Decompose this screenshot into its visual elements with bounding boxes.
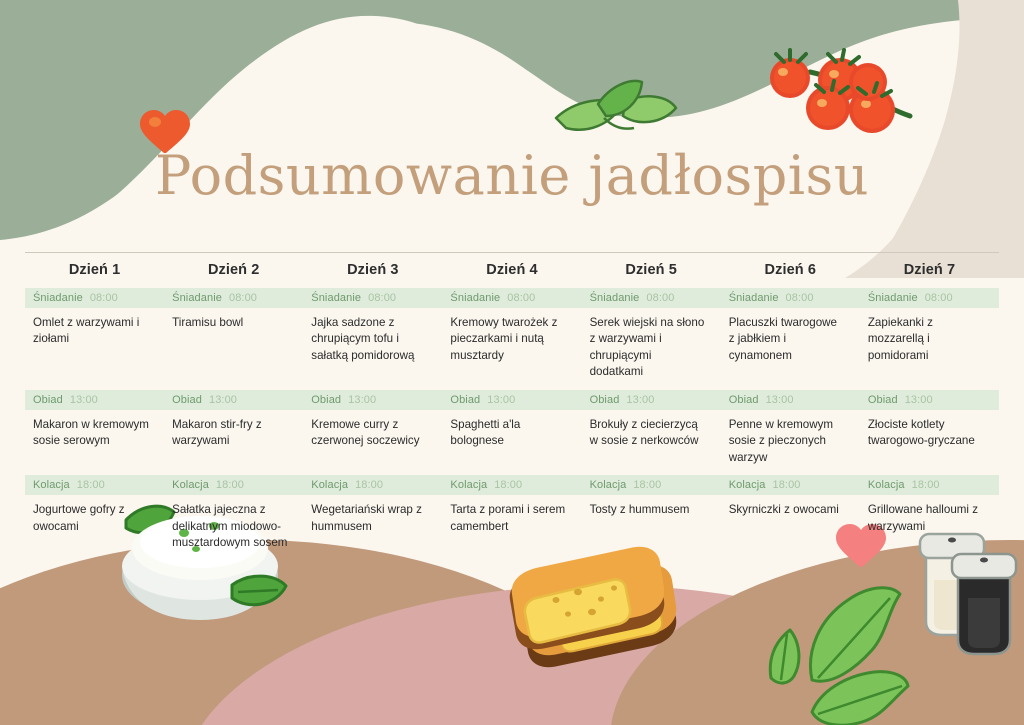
lunch-dish-cell-6: Penne w kremowym sosie z pieczonych warz…	[721, 410, 860, 475]
dinner-dish-cell-2: Sałatka jajeczna z delikatnym miodowo-mu…	[164, 495, 303, 560]
lunch-dish-row: Makaron w kremowym sosie serowym Makaron…	[25, 410, 999, 475]
day-header-6: Dzień 6	[721, 253, 860, 288]
meal-band-dinner: Kolacja 18:00	[25, 475, 164, 495]
meal-time: 18:00	[633, 479, 661, 491]
meal-band-dinner: Kolacja 18:00	[164, 475, 303, 495]
meal-label: Śniadanie	[311, 292, 361, 304]
day-header-4: Dzień 4	[442, 253, 581, 288]
meal-label: Obiad	[172, 394, 202, 406]
lunch-band-cell-4: Obiad 13:00	[442, 390, 581, 410]
meal-band-breakfast: Śniadanie 08:00	[25, 288, 164, 308]
breakfast-dish-cell-2: Tiramisu bowl	[164, 308, 303, 390]
breakfast-band-cell-4: Śniadanie 08:00	[442, 288, 581, 308]
breakfast-dish-cell-7: Zapiekanki z mozzarellą i pomidorami	[860, 308, 999, 390]
breakfast-dish-cell-6: Placuszki twarogowe z jabłkiem i cynamon…	[721, 308, 860, 390]
meal-time: 08:00	[229, 292, 257, 304]
dish-text: Grillowane halloumi z warzywami	[860, 495, 999, 544]
day-header-5: Dzień 5	[582, 253, 721, 288]
dish-text: Tosty z hummusem	[582, 495, 721, 541]
breakfast-dish-cell-1: Omlet z warzywami i ziołami	[25, 308, 164, 390]
breakfast-band-cell-7: Śniadanie 08:00	[860, 288, 999, 308]
meal-band-lunch: Obiad 13:00	[442, 390, 581, 410]
page-title-wrap: Podsumowanie jadłospisu	[0, 148, 1024, 205]
lunch-dish-cell-1: Makaron w kremowym sosie serowym	[25, 410, 164, 475]
meal-band-dinner: Kolacja 18:00	[442, 475, 581, 495]
meal-time: 13:00	[905, 394, 933, 406]
meal-label: Kolacja	[590, 479, 627, 491]
dinner-dish-cell-6: Skyrniczki z owocami	[721, 495, 860, 560]
meal-band-breakfast: Śniadanie 08:00	[582, 288, 721, 308]
meal-time: 18:00	[772, 479, 800, 491]
dinner-dish-row: Jogurtowe gofry z owocami Sałatka jajecz…	[25, 495, 999, 560]
dish-text: Wegetariański wrap z hummusem	[303, 495, 442, 544]
meal-band-breakfast: Śniadanie 08:00	[303, 288, 442, 308]
breakfast-band-cell-5: Śniadanie 08:00	[582, 288, 721, 308]
meal-time: 18:00	[355, 479, 383, 491]
table-head: Dzień 1 Dzień 2 Dzień 3 Dzień 4 Dzień 5 …	[25, 253, 999, 288]
dish-text: Tiramisu bowl	[164, 308, 303, 364]
meal-label: Obiad	[311, 394, 341, 406]
meal-label: Kolacja	[868, 479, 905, 491]
dish-text: Złociste kotlety twarogowo-gryczane	[860, 410, 999, 459]
dinner-band-cell-6: Kolacja 18:00	[721, 475, 860, 495]
meal-time: 08:00	[646, 292, 674, 304]
dish-text: Zapiekanki z mozzarellą i pomidorami	[860, 308, 999, 373]
meal-band-lunch: Obiad 13:00	[25, 390, 164, 410]
meal-label: Kolacja	[311, 479, 348, 491]
lunch-band-row: Obiad 13:00 Obiad 13:00 Obiad 13:0	[25, 390, 999, 410]
breakfast-dish-cell-3: Jajka sadzone z chrupiącym tofu i sałatk…	[303, 308, 442, 390]
day-header-7: Dzień 7	[860, 253, 999, 288]
meal-plan-table: Dzień 1 Dzień 2 Dzień 3 Dzień 4 Dzień 5 …	[25, 253, 999, 561]
meal-time: 13:00	[209, 394, 237, 406]
dinner-band-row: Kolacja 18:00 Kolacja 18:00 Kolacja	[25, 475, 999, 495]
lunch-dish-cell-4: Spaghetti a'la bolognese	[442, 410, 581, 475]
dinner-band-cell-1: Kolacja 18:00	[25, 475, 164, 495]
dinner-band-cell-5: Kolacja 18:00	[582, 475, 721, 495]
meal-label: Obiad	[868, 394, 898, 406]
meal-band-lunch: Obiad 13:00	[582, 390, 721, 410]
day-header-2: Dzień 2	[164, 253, 303, 288]
meal-band-lunch: Obiad 13:00	[303, 390, 442, 410]
meal-band-lunch: Obiad 13:00	[721, 390, 860, 410]
meal-time: 13:00	[766, 394, 794, 406]
dinner-band-cell-2: Kolacja 18:00	[164, 475, 303, 495]
day-header-3: Dzień 3	[303, 253, 442, 288]
dish-text: Makaron w kremowym sosie serowym	[25, 410, 164, 459]
meal-label: Obiad	[450, 394, 480, 406]
dish-text: Placuszki twarogowe z jabłkiem i cynamon…	[721, 308, 860, 373]
dish-text: Tarta z porami i serem camembert	[442, 495, 581, 544]
dish-text: Brokuły z ciecierzycą w sosie z nerkowcó…	[582, 410, 721, 459]
lunch-band-cell-3: Obiad 13:00	[303, 390, 442, 410]
breakfast-band-cell-1: Śniadanie 08:00	[25, 288, 164, 308]
lunch-dish-cell-7: Złociste kotlety twarogowo-gryczane	[860, 410, 999, 475]
meal-time: 18:00	[77, 479, 105, 491]
meal-band-dinner: Kolacja 18:00	[582, 475, 721, 495]
meal-label: Śniadanie	[868, 292, 918, 304]
dinner-dish-cell-7: Grillowane halloumi z warzywami	[860, 495, 999, 560]
meal-band-breakfast: Śniadanie 08:00	[442, 288, 581, 308]
table-body: Śniadanie 08:00 Śniadanie 08:00 Śniadani…	[25, 288, 999, 561]
lunch-dish-cell-3: Kremowe curry z czerwonej soczewicy	[303, 410, 442, 475]
lunch-band-cell-1: Obiad 13:00	[25, 390, 164, 410]
meal-plan-table-wrap: Dzień 1 Dzień 2 Dzień 3 Dzień 4 Dzień 5 …	[25, 252, 999, 561]
lunch-band-cell-6: Obiad 13:00	[721, 390, 860, 410]
meal-label: Kolacja	[33, 479, 70, 491]
meal-label: Śniadanie	[729, 292, 779, 304]
dinner-band-cell-7: Kolacja 18:00	[860, 475, 999, 495]
meal-label: Śniadanie	[590, 292, 640, 304]
lunch-band-cell-2: Obiad 13:00	[164, 390, 303, 410]
meal-time: 13:00	[626, 394, 654, 406]
meal-label: Śniadanie	[450, 292, 500, 304]
meal-band-breakfast: Śniadanie 08:00	[721, 288, 860, 308]
dish-text: Jajka sadzone z chrupiącym tofu i sałatk…	[303, 308, 442, 373]
meal-label: Śniadanie	[172, 292, 222, 304]
meal-label: Obiad	[590, 394, 620, 406]
lunch-band-cell-5: Obiad 13:00	[582, 390, 721, 410]
meal-band-dinner: Kolacja 18:00	[303, 475, 442, 495]
meal-band-breakfast: Śniadanie 08:00	[860, 288, 999, 308]
meal-band-dinner: Kolacja 18:00	[721, 475, 860, 495]
breakfast-dish-cell-4: Kremowy twarożek z pieczarkami i nutą mu…	[442, 308, 581, 390]
day-header-1: Dzień 1	[25, 253, 164, 288]
meal-time: 18:00	[216, 479, 244, 491]
breakfast-band-cell-6: Śniadanie 08:00	[721, 288, 860, 308]
dish-text: Omlet z warzywami i ziołami	[25, 308, 164, 364]
meal-label: Śniadanie	[33, 292, 83, 304]
meal-time: 13:00	[348, 394, 376, 406]
meal-time: 08:00	[507, 292, 535, 304]
dinner-band-cell-3: Kolacja 18:00	[303, 475, 442, 495]
meal-label: Kolacja	[172, 479, 209, 491]
dinner-dish-cell-1: Jogurtowe gofry z owocami	[25, 495, 164, 560]
page-title: Podsumowanie jadłospisu	[0, 148, 1024, 205]
dish-text: Spaghetti a'la bolognese	[442, 410, 581, 459]
dinner-dish-cell-3: Wegetariański wrap z hummusem	[303, 495, 442, 560]
dish-text: Kremowy twarożek z pieczarkami i nutą mu…	[442, 308, 581, 373]
lunch-dish-cell-2: Makaron stir-fry z warzywami	[164, 410, 303, 475]
meal-time: 08:00	[925, 292, 953, 304]
breakfast-dish-row: Omlet z warzywami i ziołami Tiramisu bow…	[25, 308, 999, 390]
meal-label: Kolacja	[729, 479, 766, 491]
breakfast-band-cell-2: Śniadanie 08:00	[164, 288, 303, 308]
meal-label: Obiad	[729, 394, 759, 406]
breakfast-band-cell-3: Śniadanie 08:00	[303, 288, 442, 308]
day-header-row: Dzień 1 Dzień 2 Dzień 3 Dzień 4 Dzień 5 …	[25, 253, 999, 288]
breakfast-band-row: Śniadanie 08:00 Śniadanie 08:00 Śniadani…	[25, 288, 999, 308]
meal-band-lunch: Obiad 13:00	[164, 390, 303, 410]
dish-text: Skyrniczki z owocami	[721, 495, 860, 541]
meal-band-dinner: Kolacja 18:00	[860, 475, 999, 495]
meal-band-lunch: Obiad 13:00	[860, 390, 999, 410]
dish-text: Jogurtowe gofry z owocami	[25, 495, 164, 544]
meal-band-breakfast: Śniadanie 08:00	[164, 288, 303, 308]
meal-time: 18:00	[494, 479, 522, 491]
meal-plan-page: Podsumowanie jadłospisu Dzień 1 Dzień 2 …	[0, 0, 1024, 725]
meal-time: 08:00	[90, 292, 118, 304]
dinner-band-cell-4: Kolacja 18:00	[442, 475, 581, 495]
lunch-dish-cell-5: Brokuły z ciecierzycą w sosie z nerkowcó…	[582, 410, 721, 475]
dish-text: Kremowe curry z czerwonej soczewicy	[303, 410, 442, 459]
meal-time: 08:00	[786, 292, 814, 304]
meal-label: Kolacja	[450, 479, 487, 491]
meal-time: 08:00	[368, 292, 396, 304]
dish-text: Penne w kremowym sosie z pieczonych warz…	[721, 410, 860, 475]
meal-time: 18:00	[912, 479, 940, 491]
meal-time: 13:00	[70, 394, 98, 406]
meal-time: 13:00	[487, 394, 515, 406]
breakfast-dish-cell-5: Serek wiejski na słono z warzywami i chr…	[582, 308, 721, 390]
dish-text: Serek wiejski na słono z warzywami i chr…	[582, 308, 721, 390]
dinner-dish-cell-5: Tosty z hummusem	[582, 495, 721, 560]
lunch-band-cell-7: Obiad 13:00	[860, 390, 999, 410]
dish-text: Sałatka jajeczna z delikatnym miodowo-mu…	[164, 495, 303, 560]
meal-label: Obiad	[33, 394, 63, 406]
dinner-dish-cell-4: Tarta z porami i serem camembert	[442, 495, 581, 560]
dish-text: Makaron stir-fry z warzywami	[164, 410, 303, 459]
